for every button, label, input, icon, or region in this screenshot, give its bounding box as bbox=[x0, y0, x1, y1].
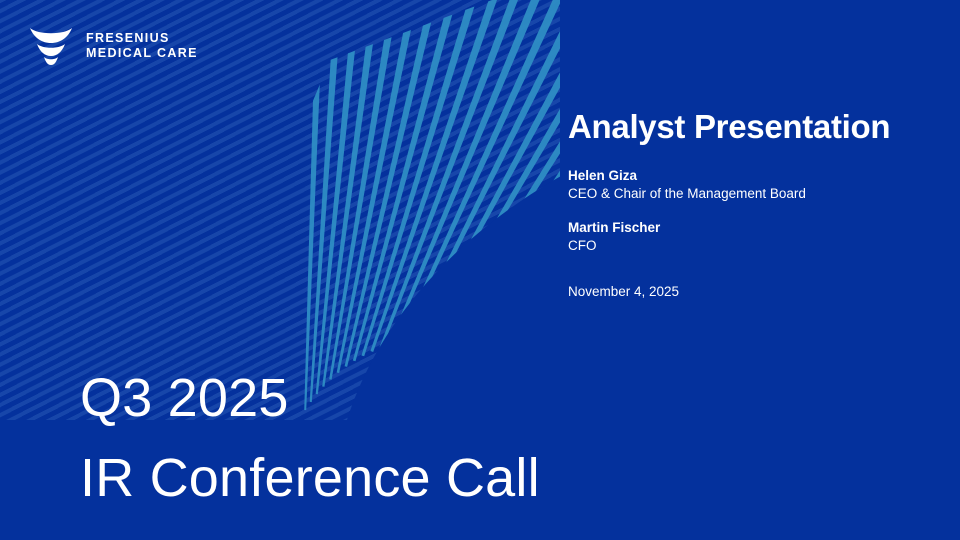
brand-logo-wordmark: FRESENIUS MEDICAL CARE bbox=[86, 31, 198, 61]
presentation-heading: Analyst Presentation bbox=[568, 108, 948, 146]
presentation-date: November 4, 2025 bbox=[568, 283, 948, 301]
slide-title: Q3 2025 IR Conference Call bbox=[80, 358, 540, 518]
presenter-entry: Helen Giza CEO & Chair of the Management… bbox=[568, 167, 948, 203]
brand-logo-line-2: MEDICAL CARE bbox=[86, 46, 198, 61]
presenter-role: CFO bbox=[568, 237, 948, 255]
presentation-title-slide: FRESENIUS MEDICAL CARE Analyst Presentat… bbox=[0, 0, 960, 540]
presenter-role: CEO & Chair of the Management Board bbox=[568, 185, 948, 203]
slide-title-line-1: Q3 2025 bbox=[80, 358, 540, 438]
brand-logo: FRESENIUS MEDICAL CARE bbox=[28, 26, 198, 66]
presentation-info-block: Analyst Presentation Helen Giza CEO & Ch… bbox=[568, 108, 948, 301]
presenter-name: Helen Giza bbox=[568, 167, 948, 185]
slide-title-line-2: IR Conference Call bbox=[80, 438, 540, 518]
presenter-entry: Martin Fischer CFO bbox=[568, 219, 948, 255]
fresenius-chevron-icon bbox=[28, 26, 74, 66]
brand-logo-line-1: FRESENIUS bbox=[86, 31, 198, 46]
presenter-name: Martin Fischer bbox=[568, 219, 948, 237]
